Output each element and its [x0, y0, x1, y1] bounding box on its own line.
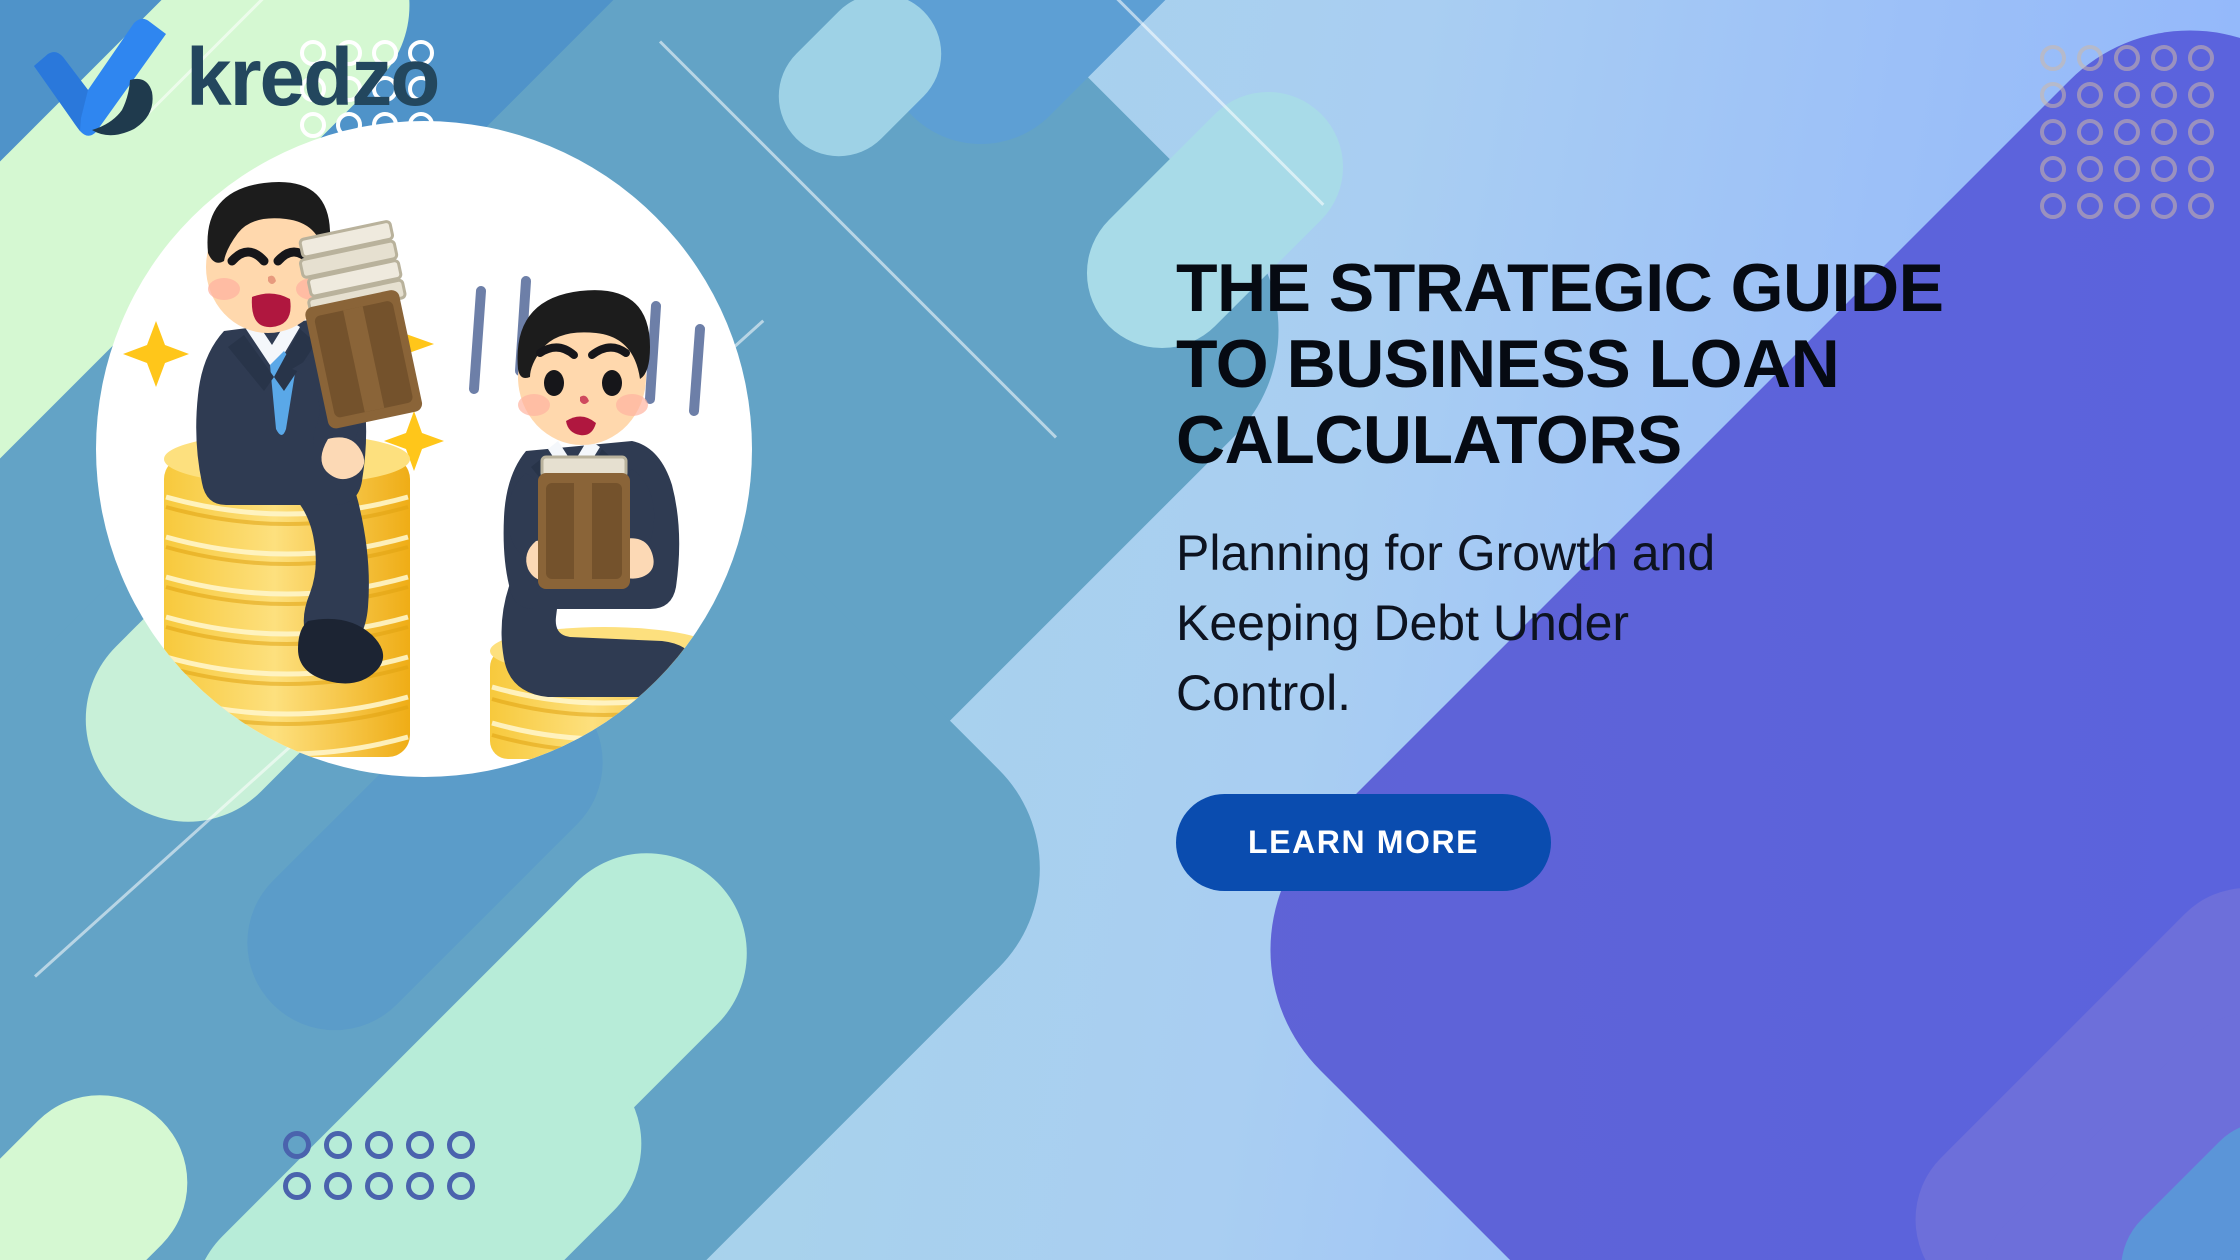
dot-grid-bottom-left [283, 1131, 475, 1200]
hero-illustration [96, 121, 752, 777]
dot [2151, 82, 2177, 108]
dot [2188, 82, 2214, 108]
dot [365, 1131, 393, 1159]
dot [324, 1172, 352, 1200]
dot [324, 1131, 352, 1159]
dot [2114, 82, 2140, 108]
dot [2040, 193, 2066, 219]
headline-line-3: CALCULATORS [1176, 402, 1682, 478]
brand-logo[interactable]: kredzo [26, 18, 438, 138]
headline-line-1: THE STRATEGIC GUIDE [1176, 250, 1944, 326]
dot [2077, 156, 2103, 182]
checkmark-icon [26, 18, 176, 138]
learn-more-button[interactable]: LEARN MORE [1176, 794, 1551, 891]
dot [283, 1131, 311, 1159]
dot [2114, 156, 2140, 182]
dot [2114, 193, 2140, 219]
content-column: THE STRATEGIC GUIDE TO BUSINESS LOAN CAL… [1176, 250, 2176, 891]
subtitle-line-2: Keeping Debt Under [1176, 595, 1629, 651]
dot [2114, 119, 2140, 145]
dot [2188, 193, 2214, 219]
dot [2151, 119, 2177, 145]
dot [283, 1172, 311, 1200]
dot [406, 1131, 434, 1159]
subtitle: Planning for Growth and Keeping Debt Und… [1176, 518, 2056, 728]
subtitle-line-1: Planning for Growth and [1176, 525, 1715, 581]
dot [447, 1172, 475, 1200]
dot [2040, 156, 2066, 182]
subtitle-line-3: Control. [1176, 665, 1351, 721]
brand-wordmark: kredzo [186, 37, 438, 119]
dot-grid-top-right [2040, 45, 2214, 219]
dot [2151, 156, 2177, 182]
dot [2151, 45, 2177, 71]
dot [2188, 119, 2214, 145]
dot [2077, 119, 2103, 145]
promo-banner: kredzo [0, 0, 2240, 1260]
two-businessmen-coins-illustration [96, 121, 752, 777]
page-title: THE STRATEGIC GUIDE TO BUSINESS LOAN CAL… [1176, 250, 2176, 478]
dot [2077, 45, 2103, 71]
dot [447, 1131, 475, 1159]
dot [2114, 45, 2140, 71]
dot [2188, 45, 2214, 71]
dot [2151, 193, 2177, 219]
dot [2188, 156, 2214, 182]
headline-line-2: TO BUSINESS LOAN [1176, 326, 1839, 402]
dot [2040, 82, 2066, 108]
dot [2077, 82, 2103, 108]
empty-wallet [538, 457, 630, 589]
dot [2077, 193, 2103, 219]
dot [2040, 45, 2066, 71]
dot [2040, 119, 2066, 145]
dot [406, 1172, 434, 1200]
dot [365, 1172, 393, 1200]
